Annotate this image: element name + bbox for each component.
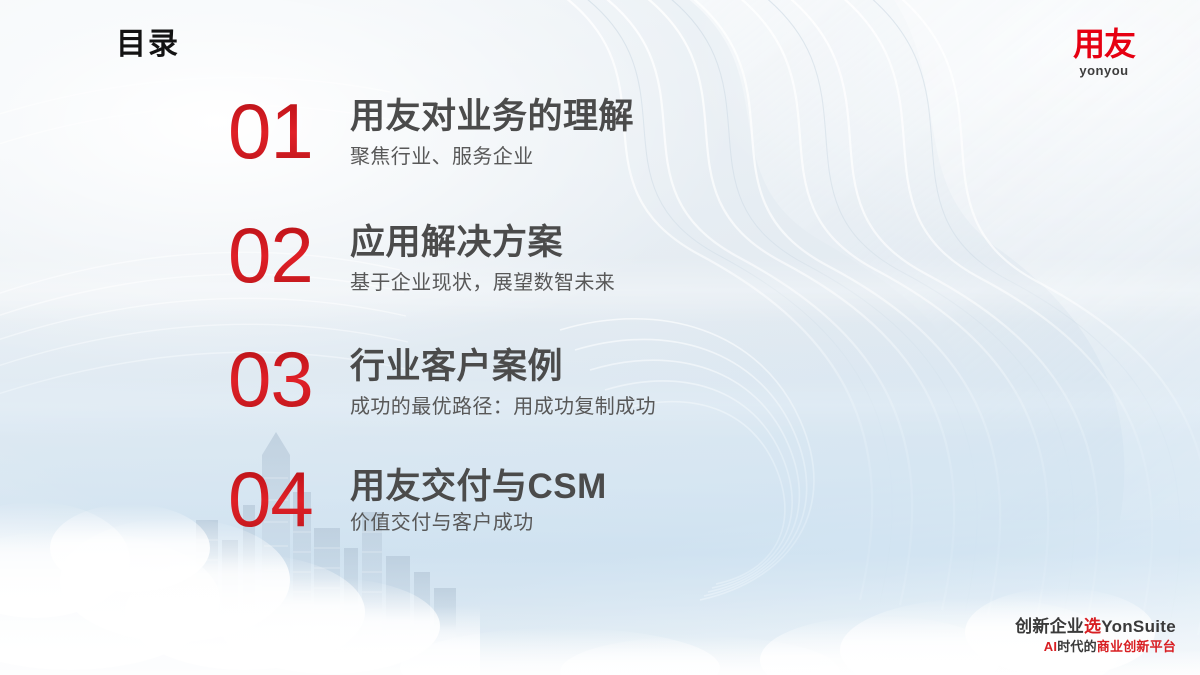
toc-item-number: 01	[228, 92, 338, 170]
toc-item-subtitle: 成功的最优路径：用成功复制成功	[350, 395, 656, 419]
slide-canvas: 目录 用友 yonyou 01 用友对业务的理解 聚焦行业、服务企业 02 应用…	[0, 0, 1200, 675]
logo-cn-text: 用友	[1048, 28, 1160, 61]
toc-item-body: 行业客户案例 成功的最优路径：用成功复制成功	[350, 346, 656, 419]
yonsuite-brand-lockup: 创新企业选YonSuite AI时代的商业创新平台	[1015, 618, 1176, 653]
brand-tagline-secondary: AI时代的商业创新平台	[1015, 640, 1176, 653]
toc-item-number: 03	[228, 340, 338, 418]
toc-item-number: 04	[228, 460, 338, 538]
toc-item-subtitle: 聚焦行业、服务企业	[350, 145, 634, 169]
brand-ai-accent: AI	[1044, 639, 1057, 654]
toc-item-subtitle: 基于企业现状，展望数智未来	[350, 271, 615, 295]
toc-item-body: 用友对业务的理解 聚焦行业、服务企业	[350, 96, 634, 169]
page-title: 目录	[116, 30, 180, 60]
logo-en-text: yonyou	[1048, 64, 1160, 77]
toc-item[interactable]: 01 用友对业务的理解 聚焦行业、服务企业	[0, 96, 1200, 222]
table-of-contents: 01 用友对业务的理解 聚焦行业、服务企业 02 应用解决方案 基于企业现状，展…	[0, 96, 1200, 592]
brand-platform-accent: 商业创新平台	[1097, 639, 1176, 654]
toc-item[interactable]: 03 行业客户案例 成功的最优路径：用成功复制成功	[0, 346, 1200, 466]
toc-item[interactable]: 04 用友交付与CSM 价值交付与客户成功	[0, 466, 1200, 592]
toc-item-heading: 用友对业务的理解	[350, 96, 634, 139]
yonyou-logo: 用友 yonyou	[1048, 28, 1160, 77]
toc-item[interactable]: 02 应用解决方案 基于企业现状，展望数智未来	[0, 222, 1200, 346]
toc-item-number: 02	[228, 216, 338, 294]
brand-tagline-primary: 创新企业选YonSuite	[1015, 618, 1176, 635]
toc-item-heading: 应用解决方案	[350, 222, 615, 265]
brand-tagline-accent: 选	[1084, 617, 1101, 636]
toc-item-subtitle: 价值交付与客户成功	[350, 511, 607, 535]
toc-item-body: 应用解决方案 基于企业现状，展望数智未来	[350, 222, 615, 295]
toc-item-heading: 行业客户案例	[350, 346, 656, 389]
toc-item-body: 用友交付与CSM 价值交付与客户成功	[350, 466, 607, 535]
brand-era-text: 时代的	[1057, 639, 1097, 654]
toc-item-heading: 用友交付与CSM	[350, 466, 607, 509]
brand-tagline-prefix: 创新企业	[1015, 617, 1084, 636]
brand-product-name: YonSuite	[1101, 617, 1176, 636]
